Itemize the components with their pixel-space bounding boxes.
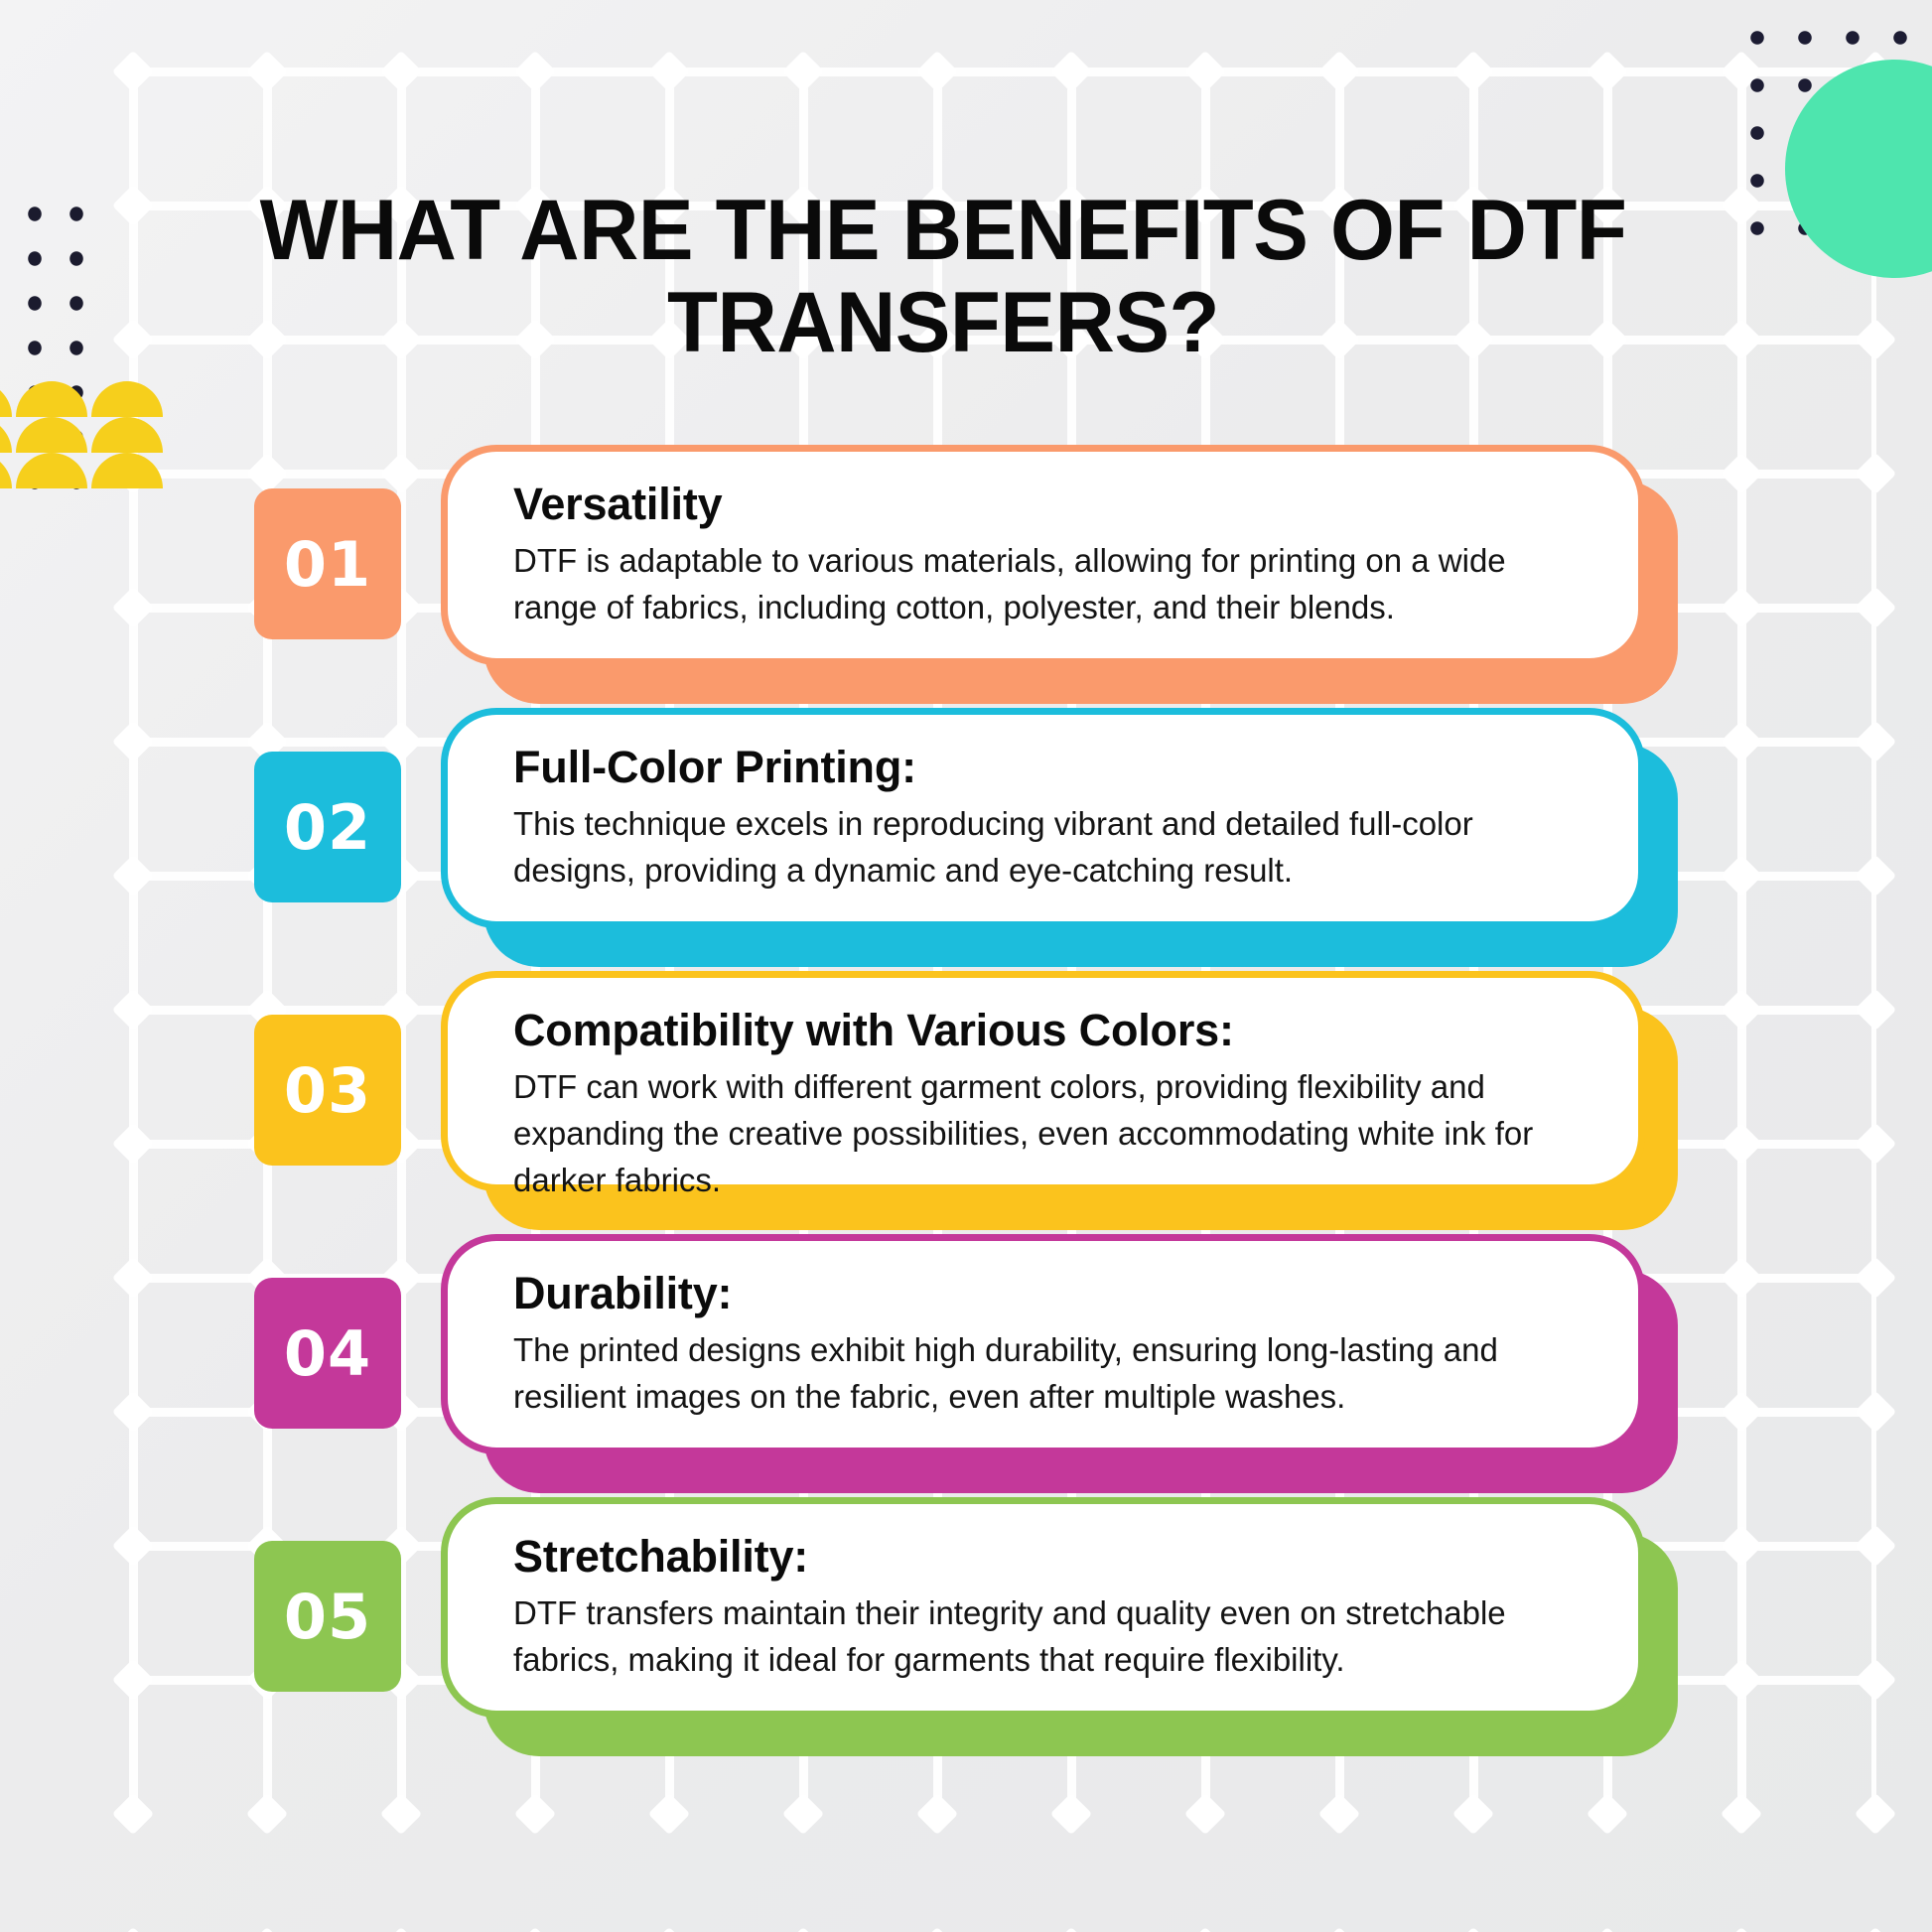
benefit-body: DTF can work with different garment colo…: [513, 1064, 1583, 1204]
benefit-number: 03: [284, 1054, 371, 1127]
benefit-item[interactable]: 04Durability:The printed designs exhibit…: [0, 1234, 1932, 1496]
benefit-item[interactable]: 02Full-Color Printing:This technique exc…: [0, 708, 1932, 970]
benefit-card[interactable]: Stretchability:DTF transfers maintain th…: [441, 1497, 1645, 1718]
page-title: WHAT ARE THE BENEFITS OF DTF TRANSFERS?: [259, 185, 1626, 369]
benefit-card[interactable]: Full-Color Printing:This technique excel…: [441, 708, 1645, 928]
benefit-item[interactable]: 03Compatibility with Various Colors:DTF …: [0, 971, 1932, 1233]
benefit-item[interactable]: 05Stretchability:DTF transfers maintain …: [0, 1497, 1932, 1759]
benefits-list: 01VersatilityDTF is adaptable to various…: [0, 445, 1932, 1760]
benefit-number-badge: 01: [254, 488, 401, 639]
benefit-number-badge: 02: [254, 752, 401, 902]
benefit-heading: Stretchability:: [513, 1530, 1583, 1583]
benefit-heading: Compatibility with Various Colors:: [513, 1004, 1583, 1056]
benefit-heading: Durability:: [513, 1267, 1583, 1319]
benefit-number-badge: 05: [254, 1541, 401, 1692]
benefit-body: DTF transfers maintain their integrity a…: [513, 1590, 1583, 1684]
benefit-card[interactable]: VersatilityDTF is adaptable to various m…: [441, 445, 1645, 665]
benefit-number: 01: [284, 528, 371, 601]
benefit-body: This technique excels in reproducing vib…: [513, 801, 1583, 895]
benefit-number: 04: [284, 1317, 371, 1390]
benefit-card[interactable]: Durability:The printed designs exhibit h…: [441, 1234, 1645, 1454]
benefit-heading: Full-Color Printing:: [513, 741, 1583, 793]
benefit-number-badge: 04: [254, 1278, 401, 1429]
benefit-card[interactable]: Compatibility with Various Colors:DTF ca…: [441, 971, 1645, 1191]
benefit-body: The printed designs exhibit high durabil…: [513, 1327, 1583, 1421]
benefit-number: 02: [284, 791, 371, 864]
benefit-number: 05: [284, 1581, 371, 1653]
infographic-page: WHAT ARE THE BENEFITS OF DTF TRANSFERS? …: [0, 0, 1932, 1932]
benefit-item[interactable]: 01VersatilityDTF is adaptable to various…: [0, 445, 1932, 707]
benefit-number-badge: 03: [254, 1015, 401, 1166]
benefit-body: DTF is adaptable to various materials, a…: [513, 538, 1583, 631]
benefit-heading: Versatility: [513, 478, 1583, 530]
